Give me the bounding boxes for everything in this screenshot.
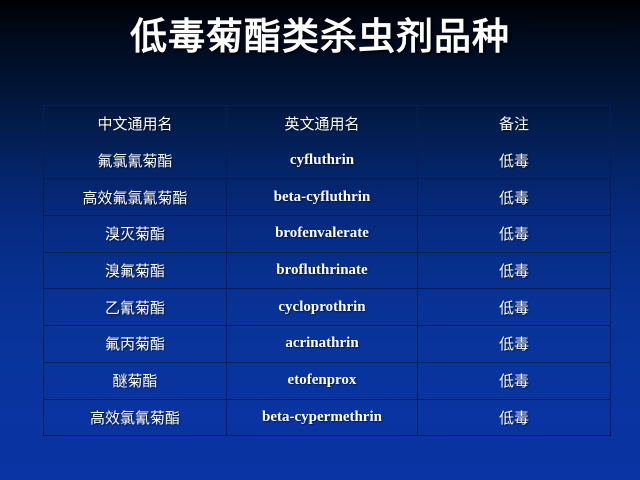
table-row: 氟氯氰菊酯 cyfluthrin 低毒 [44, 142, 611, 179]
cell-note: 低毒 [418, 179, 611, 216]
cell-chinese-name: 乙氰菊酯 [44, 289, 227, 326]
cell-english-name: cyfluthrin [227, 142, 418, 179]
cell-note: 低毒 [418, 362, 611, 399]
cell-chinese-name: 氟丙菊酯 [44, 326, 227, 363]
cell-note: 低毒 [418, 326, 611, 363]
presentation-slide: 低毒菊酯类杀虫剂品种 中文通用名 英文通用名 备注 氟氯氰菊酯 cyfluthr… [0, 0, 640, 480]
cell-note: 低毒 [418, 252, 611, 289]
table-row: 溴氟菊酯 brofluthrinate 低毒 [44, 252, 611, 289]
column-header-note: 备注 [418, 106, 611, 143]
cell-english-name: beta-cypermethrin [227, 399, 418, 436]
cell-note: 低毒 [418, 399, 611, 436]
cell-chinese-name: 溴灭菊酯 [44, 216, 227, 253]
cell-english-name: cycloprothrin [227, 289, 418, 326]
cell-note: 低毒 [418, 216, 611, 253]
cell-english-name: acrinathrin [227, 326, 418, 363]
column-header-english-name: 英文通用名 [227, 106, 418, 143]
cell-chinese-name: 高效氯氰菊酯 [44, 399, 227, 436]
cell-chinese-name: 高效氟氯氰菊酯 [44, 179, 227, 216]
cell-english-name: beta-cyfluthrin [227, 179, 418, 216]
pesticide-table: 中文通用名 英文通用名 备注 氟氯氰菊酯 cyfluthrin 低毒 高效氟氯氰… [43, 105, 611, 436]
cell-english-name: brofenvalerate [227, 216, 418, 253]
table-header-row: 中文通用名 英文通用名 备注 [44, 106, 611, 143]
table-row: 乙氰菊酯 cycloprothrin 低毒 [44, 289, 611, 326]
cell-note: 低毒 [418, 142, 611, 179]
cell-chinese-name: 氟氯氰菊酯 [44, 142, 227, 179]
cell-chinese-name: 溴氟菊酯 [44, 252, 227, 289]
table-row: 醚菊酯 etofenprox 低毒 [44, 362, 611, 399]
column-header-chinese-name: 中文通用名 [44, 106, 227, 143]
page-title: 低毒菊酯类杀虫剂品种 [0, 13, 640, 61]
cell-english-name: etofenprox [227, 362, 418, 399]
table-row: 溴灭菊酯 brofenvalerate 低毒 [44, 216, 611, 253]
table-row: 高效氟氯氰菊酯 beta-cyfluthrin 低毒 [44, 179, 611, 216]
cell-note: 低毒 [418, 289, 611, 326]
cell-chinese-name: 醚菊酯 [44, 362, 227, 399]
table-row: 氟丙菊酯 acrinathrin 低毒 [44, 326, 611, 363]
cell-english-name: brofluthrinate [227, 252, 418, 289]
table-row: 高效氯氰菊酯 beta-cypermethrin 低毒 [44, 399, 611, 436]
